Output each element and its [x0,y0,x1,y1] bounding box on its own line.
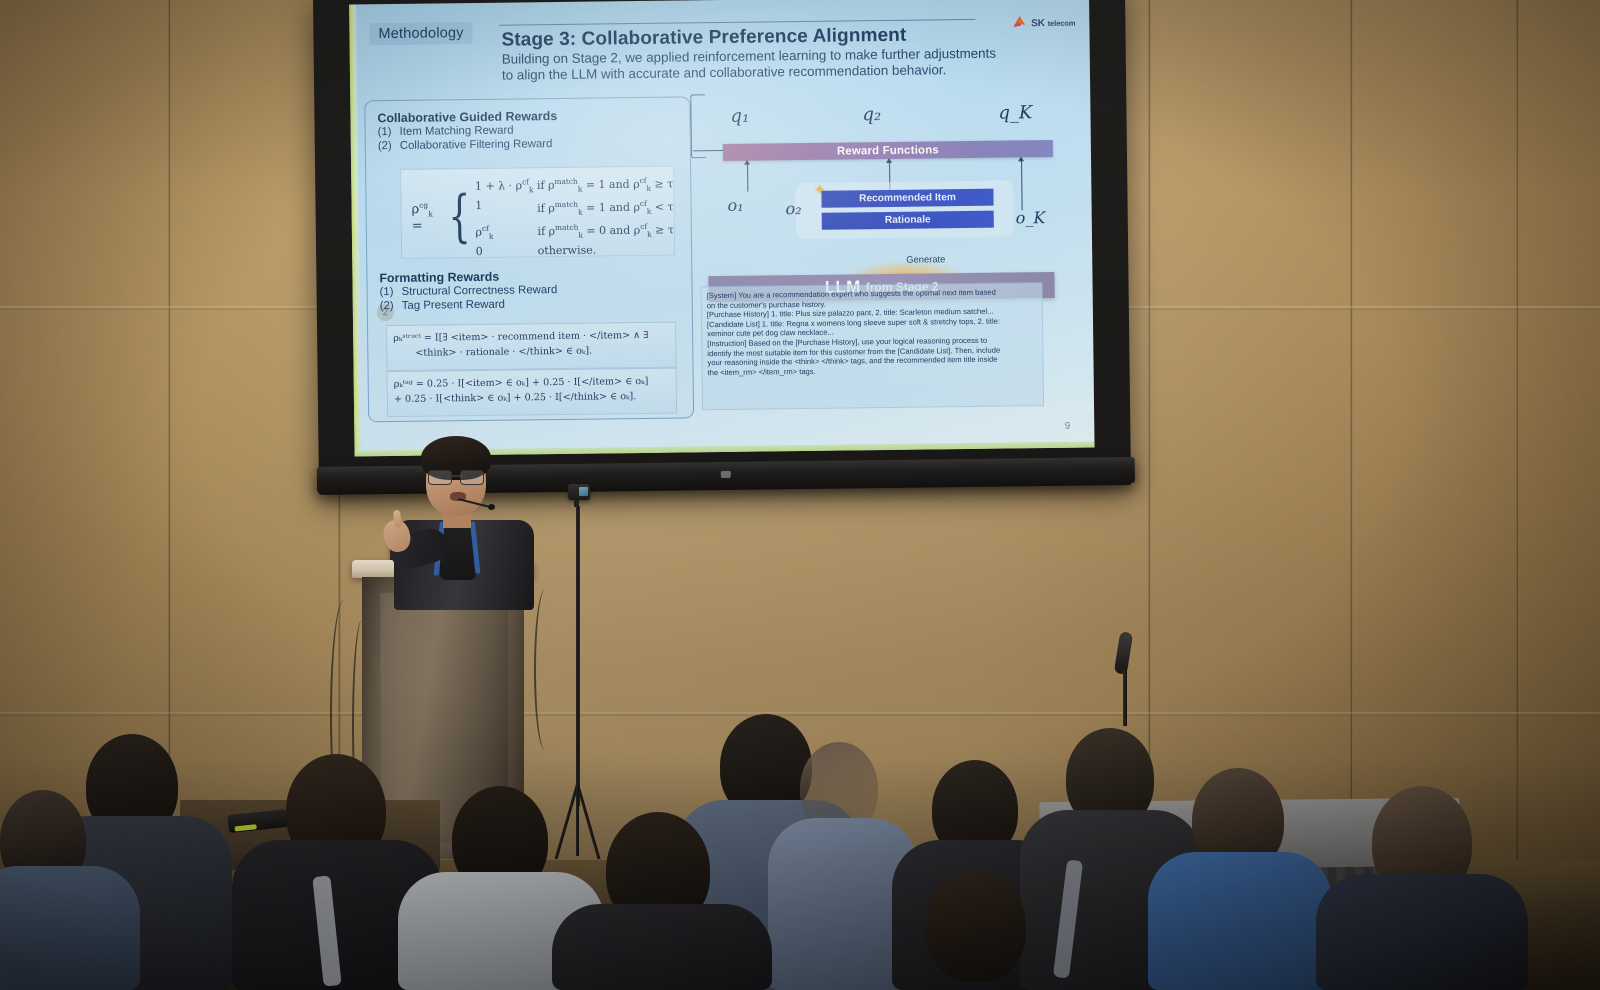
cg-item-num: (1) [378,125,394,140]
piecewise-formula: ρcgk = { 1 + λ · ρcfk if ρmatchk = 1 and… [411,174,674,259]
o-label-1: o₁ [727,196,743,215]
glasses-icon [428,470,484,483]
tag-reward-plate: ρₖᵗᵃᵍ = 0.25 · I[<item> ∈ oₖ] + 0.25 · I… [387,368,678,418]
sk-butterfly-icon [1011,16,1028,29]
rationale-block: Rationale [822,211,994,230]
arrowhead [744,160,750,165]
cg-item-label: Item Matching Reward [400,124,514,140]
audience-shoulders [0,866,140,990]
section-tag: Methodology [369,22,472,45]
piecewise-row: 1 + λ · ρcfk if ρmatchk = 1 and ρcfk ≥ τ [475,174,674,197]
audience-head [926,870,1026,982]
remote-button [234,824,256,831]
slide-subtitle: Building on Stage 2, we applied reinforc… [502,45,1082,84]
camera-tripod [560,484,630,864]
floor-cable [534,590,556,750]
cg-formula-plate: ρcgk = { 1 + λ · ρcfk if ρmatchk = 1 and… [400,166,675,259]
q-label-1: q₁ [730,106,749,127]
microphone-head-icon [1114,631,1133,675]
prompt-text-box: [System] You are a recommendation expert… [701,282,1044,410]
fmt-item-label: Tag Present Reward [402,298,505,314]
floor-microphone-stand [1110,632,1140,722]
logo-sub: telecom [1048,19,1076,28]
tripod-leg [576,784,600,860]
q-label-2: q₂ [862,104,881,125]
cg-item: (2) Collaborative Filtering Reward [378,136,678,154]
sk-telecom-logo: SK telecom [1011,16,1075,30]
tripod-pole [576,506,580,806]
presenter-finger [393,510,402,529]
struct-formula-line-2: <think> · rationale · </think> ∈ oₖ]. [415,346,592,361]
tag-formula-line-1: ρₖᵗᵃᵍ = 0.25 · I[<item> ∈ oₖ] + 0.25 · I… [394,376,649,392]
logo-name: SK [1031,18,1045,29]
rewards-content-box: Collaborative Guided Rewards (1) Item Ma… [364,96,694,422]
fmt-item-num: (2) [380,299,396,314]
arrow-o1-to-rewards [747,164,749,192]
fmt-item-label: Structural Correctness Reward [402,283,558,299]
roller-center-mark [721,471,731,478]
conference-room-photo: Methodology Stage 3: Collaborative Prefe… [0,0,1600,990]
fmt-item-num: (1) [380,285,396,300]
projected-slide: Methodology Stage 3: Collaborative Prefe… [349,0,1094,457]
tripod-leg [576,784,579,856]
recommended-item-block: Recommended Item [821,189,993,208]
generate-label: Generate [906,253,945,264]
formula-lhs: ρcgk = [411,201,443,234]
microphone-stem [1123,670,1127,726]
slide-page-number: 9 [1065,421,1071,432]
brace-glyph: { [448,191,471,243]
piecewise-row: ρcfk if ρmatchk = 0 and ρcfk ≥ τ [475,219,674,242]
audience-shoulders [1316,874,1528,990]
camera-screen [579,487,588,496]
arrowhead [1018,156,1024,161]
presenter [388,436,538,606]
audience-shoulders [1148,852,1332,990]
piecewise-rows: 1 + λ · ρcfk if ρmatchk = 1 and ρcfk ≥ τ… [475,174,674,258]
arrowhead [886,158,892,163]
cg-item-num: (2) [378,139,394,154]
q-label-k: q_K [998,102,1032,123]
cg-item-label: Collaborative Filtering Reward [400,137,553,153]
audience-shoulders [552,904,772,990]
structural-reward-plate: ρₖˢᵗʳᵘᶜᵗ = I[∃ <item> · recommend item ·… [386,322,677,372]
struct-formula-line-1: ρₖˢᵗʳᵘᶜᵗ = I[∃ <item> · recommend item ·… [393,330,648,346]
piecewise-row: 1 if ρmatchk = 1 and ρcfk < τ [475,196,674,219]
arrow-into-rewards [693,150,723,152]
tag-formula-line-2: + 0.25 · I[<think> ∈ oₖ] + 0.25 · I[</th… [394,391,637,406]
piecewise-row: 0 otherwise. [476,242,675,257]
arrow-ok-to-rewards [1021,160,1023,210]
diagram-bracket [690,94,706,158]
formatting-rewards: Formatting Rewards (1) Structural Correc… [379,268,680,314]
collaborative-guided-rewards: Collaborative Guided Rewards (1) Item Ma… [377,108,678,154]
o-label-k: o_K [1016,208,1046,227]
o-label-2: o₂ [785,199,801,218]
fmt-item: (2) Tag Present Reward [380,296,680,314]
projection-screen: Methodology Stage 3: Collaborative Prefe… [313,0,1131,495]
camera-recorder-icon [568,484,590,500]
headset-mic-tip [488,504,495,510]
